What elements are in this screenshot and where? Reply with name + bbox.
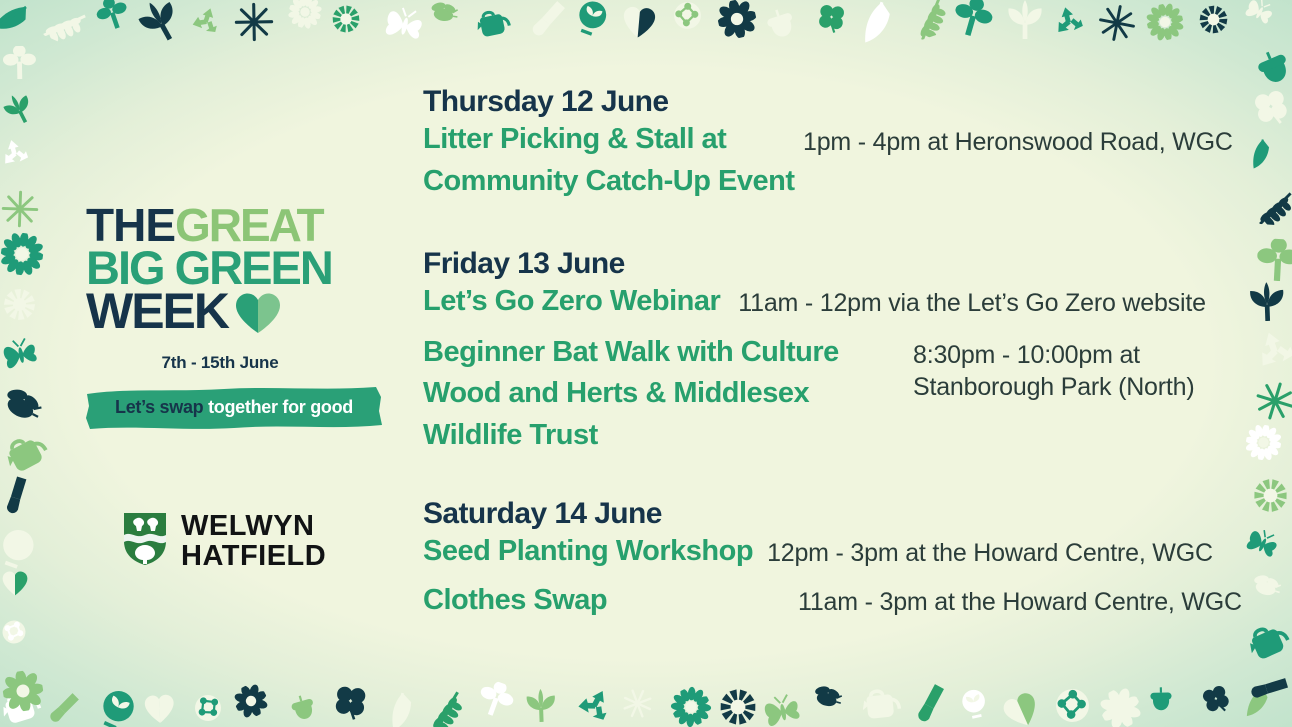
logo-line-2: BIG GREEN [86, 248, 370, 288]
shovel-icon [45, 690, 81, 726]
shovel-icon [526, 0, 568, 40]
daisy-icon [289, 0, 321, 28]
leaf-icon [0, 1, 34, 39]
lightbulb-leaf-icon [0, 526, 39, 569]
daisy-icon [672, 688, 710, 726]
plant-dark-icon [524, 688, 558, 722]
flower-icon [718, 0, 756, 38]
recycle-icon [577, 686, 614, 723]
event-time: 12pm - 3pm at the Howard Centre, WGC [767, 531, 1213, 570]
plant-dark-icon [138, 0, 181, 42]
heart-leaf-icon [620, 3, 658, 41]
event-row: Let’s Go Zero Webinar 11am - 12pm via th… [423, 281, 1275, 322]
logo-line-1: THEGREAT [86, 206, 370, 246]
sunflower-icon [717, 686, 759, 727]
sprout-icon [3, 46, 36, 79]
event-time: 11am - 12pm via the Let’s Go Zero websit… [738, 281, 1206, 320]
day-block-saturday: Saturday 14 June Seed Planting Workshop … [423, 496, 1275, 622]
brand-column: THEGREAT BIG GREEN WEEK 7th - 15th June … [72, 206, 392, 431]
logo-word-week: WEEK [86, 283, 228, 339]
lightbulb-leaf-icon [573, 0, 611, 36]
acorn-icon [1252, 44, 1292, 85]
event-name: Litter Picking & Stall at Community Catc… [423, 119, 803, 201]
event-name: Let’s Go Zero Webinar [423, 281, 738, 322]
heart-leaf-icon [1002, 691, 1041, 727]
sprout-icon [479, 682, 513, 716]
butterfly-icon [2, 335, 40, 373]
shovel-icon [0, 476, 35, 515]
plant-dark-icon [1005, 0, 1045, 39]
event-schedule: Thursday 12 June Litter Picking & Stall … [423, 84, 1275, 622]
event-row: Beginner Bat Walk with Culture Wood and … [423, 332, 1275, 456]
welwyn-hatfield-council-logo: WELWYN HATFIELD [122, 511, 326, 572]
heart-leaf-icon [0, 568, 30, 598]
bee-icon [0, 383, 42, 425]
bee-icon [811, 681, 842, 712]
welwyn-hatfield-crest-icon [122, 511, 168, 572]
sparkle-icon [1098, 4, 1136, 42]
bee-icon [428, 0, 458, 27]
lightbulb-leaf-icon [958, 687, 990, 719]
butterfly-icon [384, 4, 426, 46]
seed-dark-icon [0, 617, 29, 647]
council-name: WELWYN HATFIELD [181, 512, 326, 571]
leaf-icon [859, 0, 902, 43]
event-row: Litter Picking & Stall at Community Catc… [423, 119, 1275, 201]
tagline-text: Let’s swap together for good [84, 397, 384, 418]
butterfly-icon [763, 691, 803, 727]
tagline-part-2: together for good [208, 397, 353, 417]
watering-can-icon [4, 428, 47, 471]
watering-can-icon [862, 681, 902, 721]
sparkle-icon [234, 2, 274, 42]
border-band-left [0, 0, 50, 727]
seed-dark-icon [191, 691, 225, 725]
plant-dark-icon [3, 93, 34, 124]
council-name-line-1: WELWYN [181, 512, 326, 542]
heart-leaf-icon [142, 691, 177, 726]
event-name: Clothes Swap [423, 580, 798, 621]
poster-canvas: THEGREAT BIG GREEN WEEK 7th - 15th June … [0, 0, 1292, 727]
heart-icon [234, 292, 282, 339]
watering-can-icon [1, 684, 41, 724]
day-title: Friday 13 June [423, 246, 1275, 281]
flower-icon [3, 671, 43, 711]
event-time: 11am - 3pm at the Howard Centre, WGC [798, 580, 1242, 619]
leaf-icon [1244, 686, 1276, 718]
event-time: 8:30pm - 10:00pm at Stanborough Park (No… [913, 332, 1275, 403]
sparkle-icon [1, 190, 39, 228]
recycle-icon [191, 5, 222, 36]
sunflower-icon [330, 3, 362, 35]
daisy-icon [1, 233, 43, 275]
sprout-icon [954, 0, 992, 36]
event-row: Clothes Swap 11am - 3pm at the Howard Ce… [423, 580, 1275, 621]
fern-icon [426, 690, 465, 727]
tagline-banner: Let’s swap together for good [84, 385, 384, 431]
fern-icon [46, 4, 85, 43]
acorn-icon [1146, 682, 1176, 712]
recycle-icon [0, 137, 30, 168]
clover-icon [816, 2, 847, 33]
day-block-friday: Friday 13 June Let’s Go Zero Webinar 11a… [423, 246, 1275, 456]
event-name: Seed Planting Workshop [423, 531, 767, 572]
watering-can-icon [1247, 617, 1289, 659]
clover-icon [332, 683, 369, 720]
flower-icon [235, 685, 267, 717]
sunflower-icon [1, 286, 38, 323]
border-band-bottom [0, 677, 1292, 727]
clover-icon [1201, 684, 1231, 714]
butterfly-icon [1245, 0, 1275, 27]
leaf-icon [385, 691, 423, 727]
logo-line-3: WEEK [86, 290, 370, 339]
shovel-icon [909, 683, 950, 724]
council-name-line-2: HATFIELD [181, 542, 326, 572]
logo-dates: 7th - 15th June [84, 353, 356, 373]
seed-dark-icon [1051, 684, 1094, 727]
great-big-green-week-logo: THEGREAT BIG GREEN WEEK 7th - 15th June … [84, 206, 370, 431]
acorn-icon [762, 3, 798, 39]
event-row: Seed Planting Workshop 12pm - 3pm at the… [423, 531, 1275, 572]
sprout-icon [97, 0, 128, 29]
sunflower-icon [1197, 3, 1230, 36]
shovel-icon [1249, 668, 1288, 707]
day-title: Saturday 14 June [423, 496, 1275, 531]
fern-icon [911, 0, 949, 36]
day-title: Thursday 12 June [423, 84, 1275, 119]
tagline-part-1: Let’s swap [115, 397, 203, 417]
border-band-top [0, 0, 1292, 50]
acorn-icon [287, 690, 318, 721]
seed-dark-icon [670, 0, 705, 33]
recycle-icon [1052, 4, 1085, 37]
flower-icon [1101, 689, 1140, 727]
day-block-thursday: Thursday 12 June Litter Picking & Stall … [423, 84, 1275, 202]
lightbulb-leaf-icon [96, 687, 139, 727]
daisy-icon [1147, 4, 1183, 40]
event-time: 1pm - 4pm at Heronswood Road, WGC [803, 119, 1233, 159]
watering-can-icon [476, 3, 511, 38]
event-name: Beginner Bat Walk with Culture Wood and … [423, 332, 913, 456]
sparkle-icon [622, 688, 653, 719]
